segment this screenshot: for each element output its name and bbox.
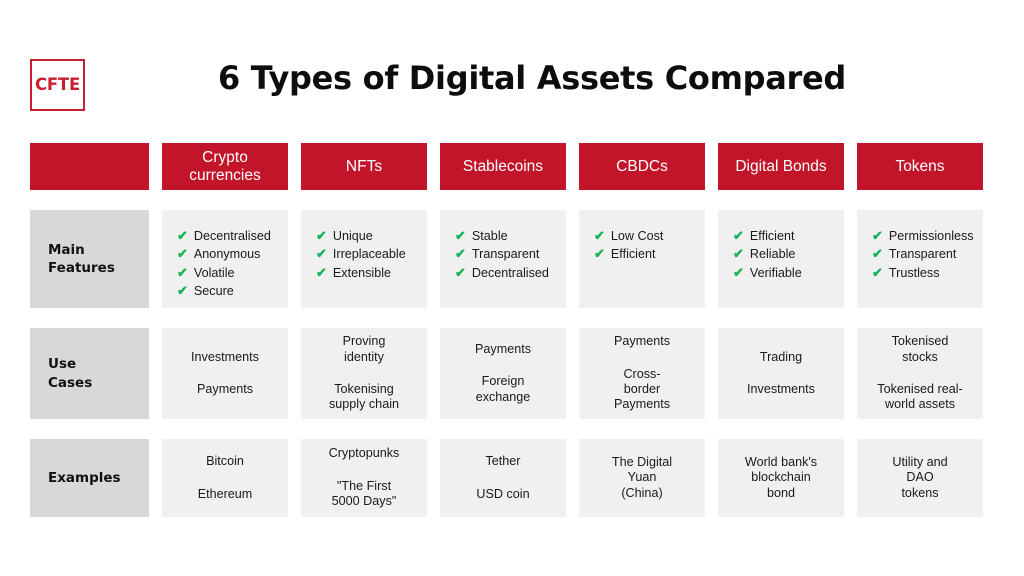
feature-item: ✔Efficient bbox=[733, 228, 794, 244]
feature-label: Volatile bbox=[194, 265, 235, 281]
table-header-6: Tokens bbox=[857, 143, 983, 190]
check-icon: ✔ bbox=[455, 247, 466, 260]
table-cell-r2-c4: World bank's blockchain bond bbox=[718, 439, 844, 517]
cell-text-item: USD coin bbox=[476, 487, 529, 502]
row-label-0: Main Features bbox=[30, 210, 149, 308]
feature-item: ✔Reliable bbox=[733, 246, 795, 262]
cell-text-item: Payments bbox=[475, 342, 531, 357]
check-icon: ✔ bbox=[177, 284, 188, 297]
feature-item: ✔Trustless bbox=[872, 265, 940, 281]
check-icon: ✔ bbox=[455, 266, 466, 279]
check-icon: ✔ bbox=[177, 247, 188, 260]
feature-item: ✔Extensible bbox=[316, 265, 391, 281]
table-cell-r0-c3: ✔Low Cost✔Efficient bbox=[579, 210, 705, 308]
feature-item: ✔Transparent bbox=[455, 246, 539, 262]
cell-text-item: Investments bbox=[191, 350, 259, 365]
check-icon: ✔ bbox=[872, 229, 883, 242]
feature-label: Anonymous bbox=[194, 246, 261, 262]
feature-label: Reliable bbox=[750, 246, 796, 262]
feature-label: Verifiable bbox=[750, 265, 802, 281]
cell-text-item: The Digital Yuan (China) bbox=[612, 455, 672, 501]
table-cell-r2-c3: The Digital Yuan (China) bbox=[579, 439, 705, 517]
feature-label: Transparent bbox=[472, 246, 539, 262]
check-icon: ✔ bbox=[594, 229, 605, 242]
table-cell-r0-c5: ✔Permissionless✔Transparent✔Trustless bbox=[857, 210, 983, 308]
cell-text-item: Foreign exchange bbox=[476, 374, 531, 405]
feature-label: Unique bbox=[333, 228, 373, 244]
check-icon: ✔ bbox=[733, 229, 744, 242]
feature-label: Transparent bbox=[889, 246, 956, 262]
cell-text-item: Payments bbox=[197, 382, 253, 397]
feature-list: ✔Decentralised✔Anonymous✔Volatile✔Secure bbox=[167, 228, 283, 299]
feature-label: Efficient bbox=[611, 246, 656, 262]
cell-text-item: Bitcoin bbox=[206, 454, 244, 469]
check-icon: ✔ bbox=[733, 247, 744, 260]
feature-item: ✔Volatile bbox=[177, 265, 235, 281]
check-icon: ✔ bbox=[316, 247, 327, 260]
feature-item: ✔Irreplaceable bbox=[316, 246, 406, 262]
cell-text-item: Ethereum bbox=[198, 487, 253, 502]
cell-text-item: "The First 5000 Days" bbox=[332, 479, 397, 510]
cell-text-block: Cryptopunks"The First 5000 Days" bbox=[306, 446, 422, 509]
check-icon: ✔ bbox=[733, 266, 744, 279]
feature-item: ✔Decentralised bbox=[455, 265, 549, 281]
cell-text-block: PaymentsForeign exchange bbox=[445, 342, 561, 405]
cell-text-item: Tokenised real- world assets bbox=[877, 382, 962, 413]
cell-text-item: Tether bbox=[485, 454, 520, 469]
cell-text-item: Payments bbox=[614, 334, 670, 349]
feature-label: Low Cost bbox=[611, 228, 664, 244]
cell-text-item: Cross- border Payments bbox=[614, 367, 670, 413]
table-cell-r1-c5: Tokenised stocksTokenised real- world as… bbox=[857, 328, 983, 419]
check-icon: ✔ bbox=[455, 229, 466, 242]
table-cell-r0-c4: ✔Efficient✔Reliable✔Verifiable bbox=[718, 210, 844, 308]
cell-text-item: Tokenising supply chain bbox=[329, 382, 399, 413]
table-header-5: Digital Bonds bbox=[718, 143, 844, 190]
feature-item: ✔Anonymous bbox=[177, 246, 260, 262]
table-cell-r1-c1: Proving identityTokenising supply chain bbox=[301, 328, 427, 419]
table-cell-r1-c3: PaymentsCross- border Payments bbox=[579, 328, 705, 419]
check-icon: ✔ bbox=[177, 229, 188, 242]
feature-list: ✔Permissionless✔Transparent✔Trustless bbox=[862, 228, 978, 281]
feature-label: Extensible bbox=[333, 265, 391, 281]
feature-item: ✔Transparent bbox=[872, 246, 956, 262]
cell-text-item: Utility and DAO tokens bbox=[892, 455, 947, 501]
feature-item: ✔Efficient bbox=[594, 246, 655, 262]
feature-label: Efficient bbox=[750, 228, 795, 244]
cell-text-block: Tokenised stocksTokenised real- world as… bbox=[862, 334, 978, 412]
check-icon: ✔ bbox=[177, 266, 188, 279]
feature-item: ✔Permissionless bbox=[872, 228, 974, 244]
feature-label: Stable bbox=[472, 228, 508, 244]
feature-list: ✔Stable✔Transparent✔Decentralised bbox=[445, 228, 561, 281]
table-cell-r2-c2: TetherUSD coin bbox=[440, 439, 566, 517]
table-cell-r2-c0: BitcoinEthereum bbox=[162, 439, 288, 517]
feature-label: Irreplaceable bbox=[333, 246, 406, 262]
cell-text-item: World bank's blockchain bond bbox=[745, 455, 817, 501]
cell-text-block: PaymentsCross- border Payments bbox=[584, 334, 700, 412]
cell-text-item: Tokenised stocks bbox=[892, 334, 949, 365]
feature-list: ✔Low Cost✔Efficient bbox=[584, 228, 700, 263]
table-header-2: NFTs bbox=[301, 143, 427, 190]
cell-text-block: InvestmentsPayments bbox=[167, 350, 283, 398]
check-icon: ✔ bbox=[594, 247, 605, 260]
table-cell-r0-c2: ✔Stable✔Transparent✔Decentralised bbox=[440, 210, 566, 308]
feature-item: ✔Unique bbox=[316, 228, 373, 244]
cell-text-block: Utility and DAO tokens bbox=[862, 455, 978, 501]
cell-text-item: Cryptopunks bbox=[329, 446, 400, 461]
table-cell-r1-c2: PaymentsForeign exchange bbox=[440, 328, 566, 419]
row-label-2: Examples bbox=[30, 439, 149, 517]
cell-text-block: The Digital Yuan (China) bbox=[584, 455, 700, 501]
check-icon: ✔ bbox=[872, 266, 883, 279]
feature-item: ✔Decentralised bbox=[177, 228, 271, 244]
comparison-table: Crypto currenciesNFTsStablecoinsCBDCsDig… bbox=[30, 143, 994, 517]
check-icon: ✔ bbox=[316, 229, 327, 242]
feature-item: ✔Low Cost bbox=[594, 228, 663, 244]
table-cell-r1-c0: InvestmentsPayments bbox=[162, 328, 288, 419]
feature-list: ✔Efficient✔Reliable✔Verifiable bbox=[723, 228, 839, 281]
feature-item: ✔Stable bbox=[455, 228, 508, 244]
feature-label: Decentralised bbox=[472, 265, 549, 281]
cell-text-item: Investments bbox=[747, 382, 815, 397]
page-title: 6 Types of Digital Assets Compared bbox=[0, 59, 1024, 97]
cell-text-item: Proving identity bbox=[343, 334, 386, 365]
cell-text-block: TetherUSD coin bbox=[445, 454, 561, 502]
cell-text-block: BitcoinEthereum bbox=[167, 454, 283, 502]
cell-text-item: Trading bbox=[760, 350, 802, 365]
table-header-4: CBDCs bbox=[579, 143, 705, 190]
table-header-1: Crypto currencies bbox=[162, 143, 288, 190]
feature-label: Decentralised bbox=[194, 228, 271, 244]
table-cell-r0-c0: ✔Decentralised✔Anonymous✔Volatile✔Secure bbox=[162, 210, 288, 308]
check-icon: ✔ bbox=[872, 247, 883, 260]
cell-text-block: TradingInvestments bbox=[723, 350, 839, 398]
table-cell-r2-c1: Cryptopunks"The First 5000 Days" bbox=[301, 439, 427, 517]
feature-item: ✔Verifiable bbox=[733, 265, 802, 281]
feature-list: ✔Unique✔Irreplaceable✔Extensible bbox=[306, 228, 422, 281]
feature-label: Permissionless bbox=[889, 228, 974, 244]
row-label-1: Use Cases bbox=[30, 328, 149, 419]
check-icon: ✔ bbox=[316, 266, 327, 279]
feature-label: Secure bbox=[194, 283, 234, 299]
cell-text-block: Proving identityTokenising supply chain bbox=[306, 334, 422, 412]
table-cell-r1-c4: TradingInvestments bbox=[718, 328, 844, 419]
table-header-corner bbox=[30, 143, 149, 190]
slide-root: CFTE 6 Types of Digital Assets Compared … bbox=[0, 0, 1024, 576]
feature-label: Trustless bbox=[889, 265, 940, 281]
table-header-3: Stablecoins bbox=[440, 143, 566, 190]
cell-text-block: World bank's blockchain bond bbox=[723, 455, 839, 501]
table-cell-r0-c1: ✔Unique✔Irreplaceable✔Extensible bbox=[301, 210, 427, 308]
table-cell-r2-c5: Utility and DAO tokens bbox=[857, 439, 983, 517]
feature-item: ✔Secure bbox=[177, 283, 234, 299]
